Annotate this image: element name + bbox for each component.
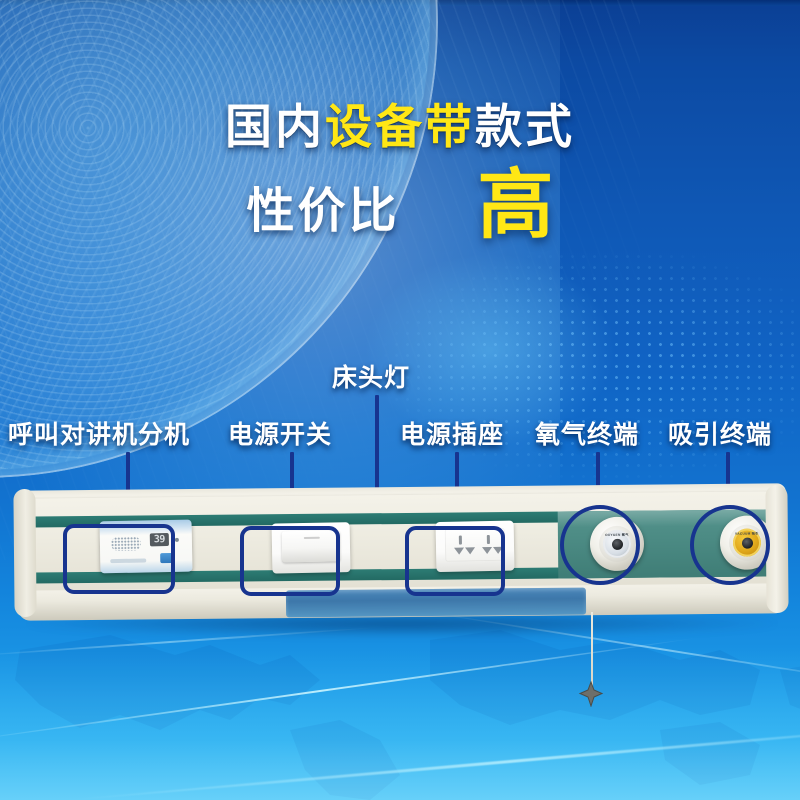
headline-big-word: 高 xyxy=(478,170,554,242)
callout-label-intercom: 呼叫对讲机分机 xyxy=(8,415,190,451)
highlight-circle-suction xyxy=(690,505,770,585)
callout-label-bed-lamp: 床头灯 xyxy=(332,358,410,394)
suction-pull-cord[interactable] xyxy=(591,612,593,690)
headline-subtitle: 性价比 xyxy=(246,171,399,241)
status-led-icon xyxy=(175,538,179,542)
callout-label-power-switch: 电源开关 xyxy=(228,415,332,451)
callout-label-power-socket: 电源插座 xyxy=(400,415,504,451)
headline-line1-part1: 国内 xyxy=(225,100,325,153)
headline-line-2: 性价比高 xyxy=(0,170,800,242)
headline-line-1: 国内设备带款式 xyxy=(0,88,800,157)
highlight-box-intercom xyxy=(63,524,175,594)
headline-line1-highlight: 设备带 xyxy=(325,100,475,153)
pull-cord-handle-icon[interactable] xyxy=(578,681,604,707)
callout-label-oxygen-outlet: 氧气终端 xyxy=(535,415,639,451)
highlight-box-power-socket xyxy=(405,526,505,596)
banner-stage: 国内设备带款式 性价比高 呼叫对讲机分机 电源开关 床头灯 电源插座 氧气终端 … xyxy=(0,0,800,800)
bottom-glow xyxy=(0,650,800,800)
panel-end-cap-left xyxy=(13,489,36,617)
highlight-box-power-switch xyxy=(240,526,340,596)
headline-line1-part2: 款式 xyxy=(475,100,575,153)
highlight-circle-oxygen xyxy=(560,505,640,585)
halftone-dot-map xyxy=(380,240,800,490)
callout-label-suction-outlet: 吸引终端 xyxy=(668,415,772,451)
